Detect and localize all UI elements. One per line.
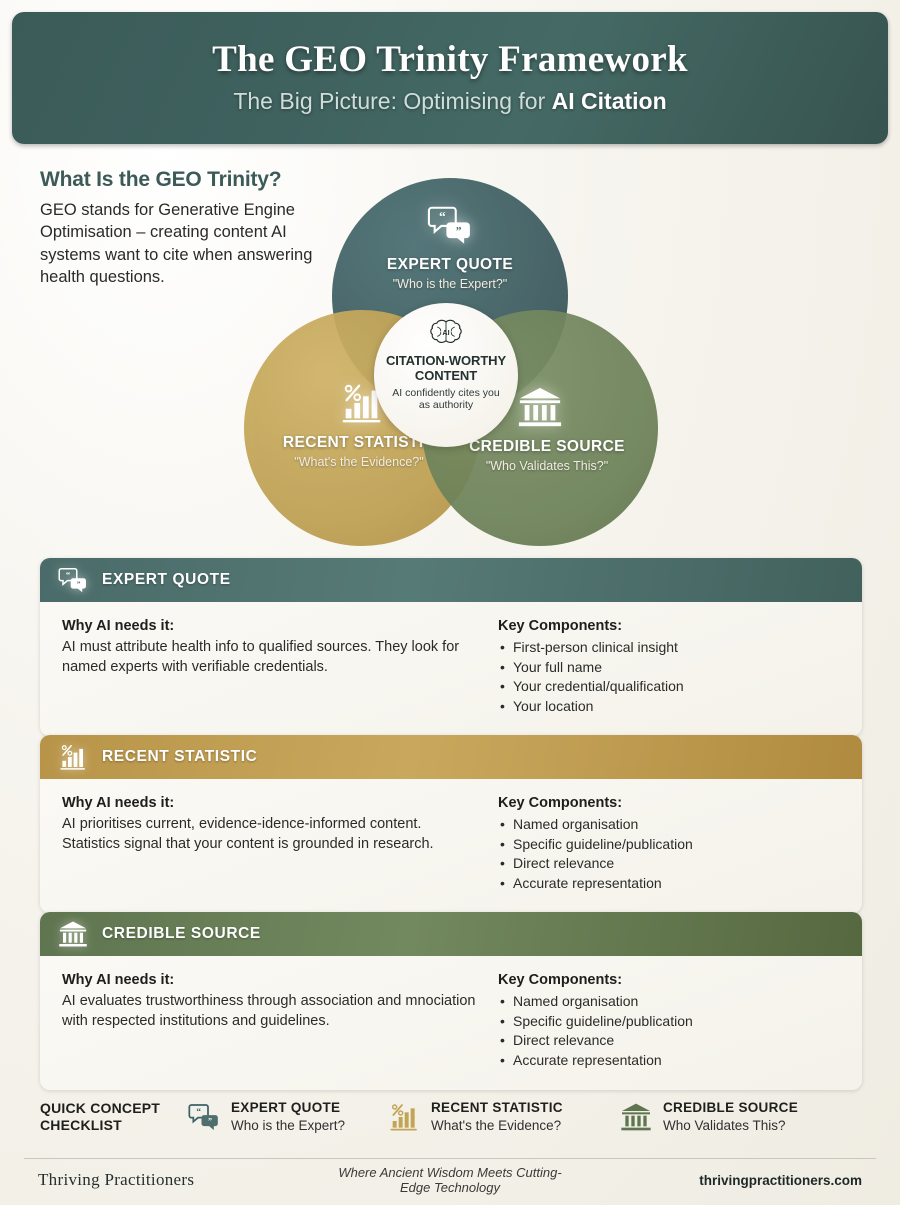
- footer-website[interactable]: thrivingpractitioners.com: [576, 1173, 876, 1188]
- card-recent-statistic: RECENT STATISTIC Why AI needs it: AI pri…: [40, 735, 862, 913]
- card-title-expert-quote: EXPERT QUOTE: [102, 571, 231, 589]
- checklist-text-group: EXPERT QUOTE Who is the Expert?: [231, 1100, 345, 1134]
- components-list: Named organisation Specific guideline/pu…: [498, 992, 840, 1069]
- card-components-column: Key Components: First-person clinical in…: [492, 618, 840, 716]
- components-list: Named organisation Specific guideline/pu…: [498, 815, 840, 892]
- checklist-item-recent-statistic: RECENT STATISTIC What's the Evidence?: [388, 1100, 620, 1134]
- subtitle-emphasis: AI Citation: [552, 88, 667, 114]
- svg-text:“: “: [439, 209, 446, 224]
- list-item: Named organisation: [498, 815, 840, 834]
- infographic-page: The GEO Trinity Framework The Big Pictur…: [0, 0, 900, 1205]
- venn-center-citation-worthy: AI CITATION-WORTHY CONTENT AI confidentl…: [374, 303, 518, 447]
- list-item: Your full name: [498, 658, 840, 677]
- card-why-column: Why AI needs it: AI must attribute healt…: [62, 618, 492, 716]
- ai-brain-icon: AI: [429, 318, 463, 348]
- card-expert-quote: “ ” EXPERT QUOTE Why AI needs it: AI mus…: [40, 558, 862, 736]
- venn-question-expert-quote: "Who is the Expert?": [393, 277, 507, 291]
- checklist-item-expert-quote: “ ” EXPERT QUOTE Who is the Expert?: [188, 1100, 388, 1134]
- svg-text:”: ”: [208, 1117, 212, 1126]
- list-item: Direct relevance: [498, 1031, 840, 1050]
- speech-bubbles-icon: “ ”: [188, 1101, 220, 1133]
- checklist-title: CREDIBLE SOURCE: [663, 1100, 798, 1117]
- checklist-item-credible-source: CREDIBLE SOURCE Who Validates This?: [620, 1100, 830, 1134]
- speech-bubbles-icon: “ ”: [58, 565, 88, 595]
- components-label: Key Components:: [498, 618, 840, 634]
- bar-chart-percent-icon: [58, 742, 88, 772]
- list-item: Your location: [498, 697, 840, 716]
- list-item: Specific guideline/publication: [498, 835, 840, 854]
- bank-building-icon: [517, 384, 563, 430]
- venn-center-title: CITATION-WORTHY CONTENT: [386, 354, 506, 383]
- card-header-credible-source: CREDIBLE SOURCE: [40, 912, 862, 956]
- subtitle-prefix: The Big Picture: Optimising for: [233, 88, 551, 114]
- checklist-heading-line1: QUICK CONCEPT: [40, 1100, 160, 1116]
- why-text: AI prioritises current, evidence-idence-…: [62, 814, 476, 854]
- page-subtitle: The Big Picture: Optimising for AI Citat…: [233, 88, 666, 115]
- venn-center-title-line2: CONTENT: [415, 368, 477, 383]
- speech-bubbles-icon: “ ”: [427, 202, 473, 248]
- card-credible-source: CREDIBLE SOURCE Why AI needs it: AI eval…: [40, 912, 862, 1090]
- card-title-recent-statistic: RECENT STATISTIC: [102, 748, 257, 766]
- venn-question-recent-statistic: "What's the Evidence?": [294, 455, 423, 469]
- checklist-heading: QUICK CONCEPT CHECKLIST: [40, 1100, 188, 1135]
- why-label: Why AI needs it:: [62, 795, 476, 811]
- why-text: AI evaluates trustworthiness through ass…: [62, 991, 476, 1031]
- card-components-column: Key Components: Named organisation Speci…: [492, 972, 840, 1070]
- list-item: Named organisation: [498, 992, 840, 1011]
- checklist-text-group: RECENT STATISTIC What's the Evidence?: [431, 1100, 563, 1134]
- list-item: First-person clinical insight: [498, 638, 840, 657]
- card-title-credible-source: CREDIBLE SOURCE: [102, 925, 261, 943]
- header-banner: The GEO Trinity Framework The Big Pictur…: [12, 12, 888, 144]
- card-header-expert-quote: “ ” EXPERT QUOTE: [40, 558, 862, 602]
- why-label: Why AI needs it:: [62, 972, 476, 988]
- components-list: First-person clinical insight Your full …: [498, 638, 840, 715]
- list-item: Accurate representation: [498, 1051, 840, 1070]
- bank-building-icon: [620, 1101, 652, 1133]
- venn-center-title-line1: CITATION-WORTHY: [386, 353, 506, 368]
- card-header-recent-statistic: RECENT STATISTIC: [40, 735, 862, 779]
- svg-text:“: “: [196, 1106, 201, 1117]
- page-title: The GEO Trinity Framework: [212, 41, 688, 80]
- quick-concept-checklist: QUICK CONCEPT CHECKLIST “ ” EXPERT QUOTE…: [40, 1090, 862, 1144]
- list-item: Specific guideline/publication: [498, 1012, 840, 1031]
- card-components-column: Key Components: Named organisation Speci…: [492, 795, 840, 893]
- venn-question-credible-source: "Who Validates This?": [486, 459, 608, 473]
- list-item: Direct relevance: [498, 854, 840, 873]
- card-body-expert-quote: Why AI needs it: AI must attribute healt…: [40, 602, 862, 736]
- checklist-question: Who is the Expert?: [231, 1117, 345, 1135]
- footer-tagline: Where Ancient Wisdom Meets Cutting-Edge …: [324, 1165, 576, 1195]
- card-why-column: Why AI needs it: AI prioritises current,…: [62, 795, 492, 893]
- components-label: Key Components:: [498, 972, 840, 988]
- footer-divider: [24, 1158, 876, 1159]
- bar-chart-percent-icon: [388, 1101, 420, 1133]
- svg-text:“: “: [66, 570, 71, 580]
- checklist-question: What's the Evidence?: [431, 1117, 563, 1135]
- venn-title-credible-source: CREDIBLE SOURCE: [469, 438, 625, 456]
- venn-center-subtitle: AI confidently cites you as authority: [374, 387, 518, 412]
- card-body-recent-statistic: Why AI needs it: AI prioritises current,…: [40, 779, 862, 913]
- why-text: AI must attribute health info to qualifi…: [62, 637, 476, 677]
- checklist-title: RECENT STATISTIC: [431, 1100, 563, 1117]
- card-why-column: Why AI needs it: AI evaluates trustworth…: [62, 972, 492, 1070]
- card-body-credible-source: Why AI needs it: AI evaluates trustworth…: [40, 956, 862, 1090]
- checklist-heading-line2: CHECKLIST: [40, 1117, 122, 1133]
- checklist-title: EXPERT QUOTE: [231, 1100, 345, 1117]
- venn-diagram: “ ” EXPERT QUOTE "Who is the Expert?" RE…: [236, 178, 666, 538]
- footer-bar: Thriving Practitioners Where Ancient Wis…: [24, 1163, 876, 1197]
- checklist-text-group: CREDIBLE SOURCE Who Validates This?: [663, 1100, 798, 1134]
- components-label: Key Components:: [498, 795, 840, 811]
- svg-text:”: ”: [456, 226, 462, 238]
- svg-text:”: ”: [77, 579, 81, 588]
- svg-text:AI: AI: [442, 329, 449, 337]
- list-item: Accurate representation: [498, 874, 840, 893]
- why-label: Why AI needs it:: [62, 618, 476, 634]
- bank-building-icon: [58, 919, 88, 949]
- venn-title-expert-quote: EXPERT QUOTE: [387, 256, 513, 274]
- list-item: Your credential/qualification: [498, 677, 840, 696]
- checklist-question: Who Validates This?: [663, 1117, 798, 1135]
- footer-brand: Thriving Practitioners: [24, 1170, 324, 1190]
